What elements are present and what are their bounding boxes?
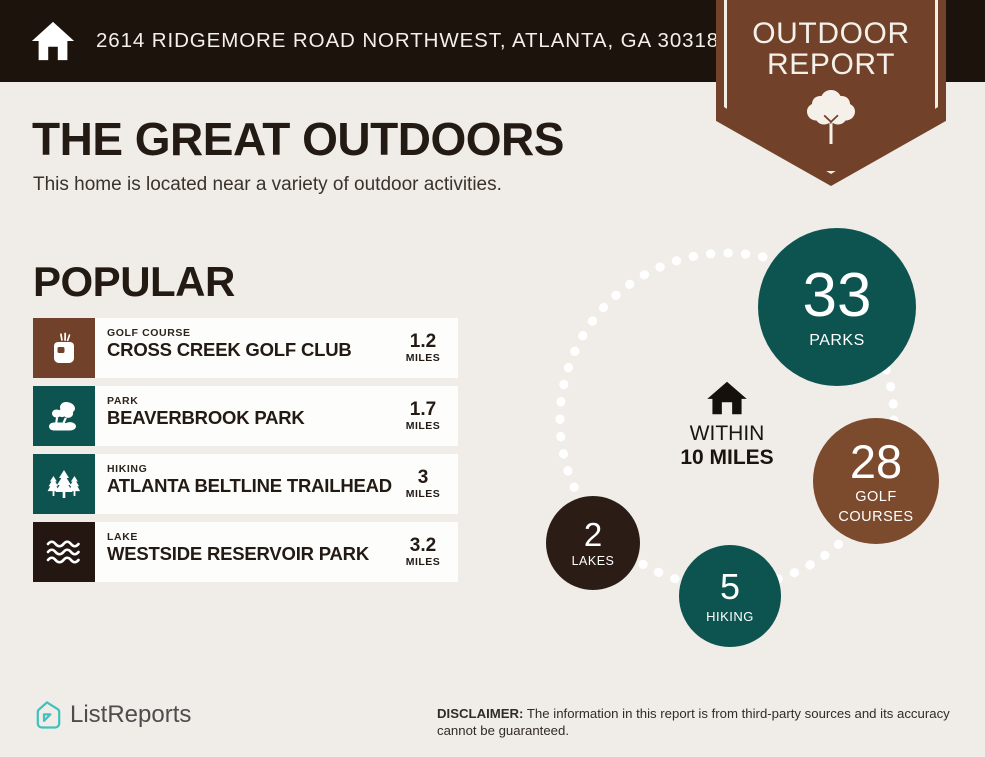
stat-label: LAKES [572, 554, 615, 568]
badge-title-line1: OUTDOOR [716, 0, 946, 49]
list-item[interactable]: GOLF COURSE CROSS CREEK GOLF CLUB 1.2 MI… [33, 318, 458, 378]
logo-text: ListReports [70, 701, 191, 729]
page-subtitle: This home is located near a variety of o… [33, 174, 502, 196]
distance-value: 3.2 [398, 536, 448, 556]
park-trees-icon [33, 386, 95, 446]
stat-bubble-parks[interactable]: 33 PARKS [758, 228, 916, 386]
distance-value: 1.2 [398, 332, 448, 352]
water-waves-icon [33, 522, 95, 582]
badge-title-line2: REPORT [716, 49, 946, 80]
list-item-distance: 1.7 MILES [398, 386, 458, 446]
stat-value: 2 [584, 518, 602, 551]
disclaimer-label: DISCLAIMER: [437, 706, 523, 721]
list-item-distance: 3 MILES [398, 454, 458, 514]
stat-label: HIKING [706, 609, 754, 624]
tree-icon [804, 88, 858, 146]
list-item-name: BEAVERBROOK PARK [107, 407, 392, 428]
stat-bubble-hiking[interactable]: 5 HIKING [679, 545, 781, 647]
distance-value: 3 [398, 468, 448, 488]
within-label: WITHIN [642, 422, 812, 446]
distance-unit: MILES [398, 352, 448, 364]
distance-unit: MILES [398, 420, 448, 432]
distance-unit: MILES [398, 556, 448, 568]
popular-heading: POPULAR [33, 258, 235, 306]
stat-value: 5 [720, 569, 740, 605]
list-item[interactable]: HIKING ATLANTA BELTLINE TRAILHEAD 3 MILE… [33, 454, 458, 514]
stat-value: 28 [850, 438, 902, 485]
stat-bubble-lakes[interactable]: 2 LAKES [546, 496, 640, 590]
disclaimer: DISCLAIMER: The information in this repo… [437, 705, 957, 739]
property-address: 2614 RIDGEMORE ROAD NORTHWEST, ATLANTA, … [96, 29, 719, 53]
stat-label-line2: COURSES [838, 509, 913, 525]
stat-bubble-golf-courses[interactable]: 28 GOLF COURSES [813, 418, 939, 544]
outdoor-report-badge: OUTDOOR REPORT [716, 0, 946, 186]
distance-unit: MILES [398, 488, 448, 500]
listreports-logo[interactable]: ListReports [33, 700, 191, 730]
page-title: THE GREAT OUTDOORS [32, 112, 564, 166]
listreports-house-icon [33, 700, 61, 730]
list-item-name: WESTSIDE RESERVOIR PARK [107, 543, 392, 564]
home-icon [30, 18, 76, 64]
list-item[interactable]: PARK BEAVERBROOK PARK 1.7 MILES [33, 386, 458, 446]
list-item-category: PARK [107, 395, 392, 407]
list-item-name: CROSS CREEK GOLF CLUB [107, 339, 392, 360]
stat-label-line1: GOLF [855, 489, 896, 505]
list-item-category: HIKING [107, 463, 392, 475]
miles-label: 10 MILES [642, 446, 812, 470]
list-item-distance: 3.2 MILES [398, 522, 458, 582]
list-item-category: LAKE [107, 531, 392, 543]
stat-label: PARKS [809, 332, 865, 350]
home-icon [706, 380, 748, 416]
distance-value: 1.7 [398, 400, 448, 420]
golf-bag-icon [33, 318, 95, 378]
list-item[interactable]: LAKE WESTSIDE RESERVOIR PARK 3.2 MILES [33, 522, 458, 582]
within-10-miles-cluster: 33 PARKS 28 GOLF COURSES 2 LAKES 5 HIKIN… [520, 220, 985, 665]
list-item-distance: 1.2 MILES [398, 318, 458, 378]
pine-trees-icon [33, 454, 95, 514]
stat-value: 33 [803, 265, 872, 327]
list-item-category: GOLF COURSE [107, 327, 392, 339]
cluster-center: WITHIN 10 MILES [642, 380, 812, 470]
popular-places-list: GOLF COURSE CROSS CREEK GOLF CLUB 1.2 MI… [33, 318, 458, 590]
list-item-name: ATLANTA BELTLINE TRAILHEAD [107, 475, 392, 496]
